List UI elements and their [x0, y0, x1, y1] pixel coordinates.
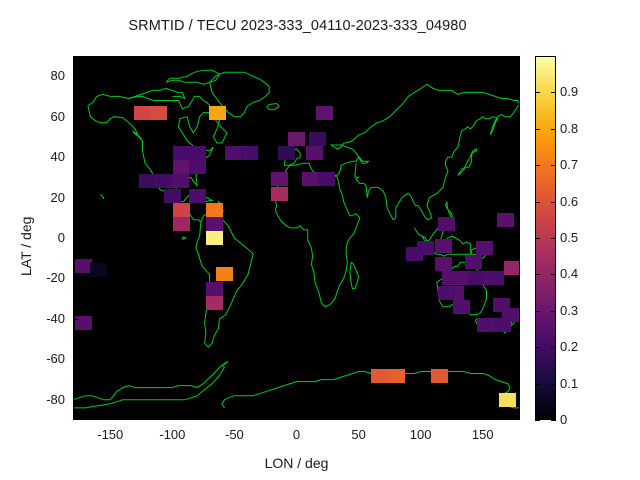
x-axis-tick-label: -50: [204, 427, 264, 442]
x-axis-tick-label: 50: [329, 427, 389, 442]
heatmap-cell: [189, 160, 206, 174]
colorbar-tick-mark: [535, 129, 540, 130]
colorbar-tick-label: 0.9: [560, 84, 578, 99]
colorbar-tick-mark: [551, 384, 556, 385]
heatmap-cell: [494, 318, 511, 332]
heatmap-cell: [316, 106, 333, 120]
heatmap-cell: [499, 393, 516, 407]
x-axis-tick-label: 100: [391, 427, 451, 442]
x-axis-tick-mark: [297, 415, 298, 420]
x-axis-tick-mark: [483, 415, 484, 420]
y-axis-tick-mark: [73, 238, 78, 239]
heatmap-cell: [438, 286, 455, 300]
y-axis-tick-label: 0: [5, 230, 65, 245]
heatmap-cell: [155, 174, 172, 188]
heatmap-cell: [164, 189, 181, 203]
heatmap-cell: [90, 263, 107, 277]
heatmap-cell: [241, 146, 258, 160]
colorbar-tick-label: 0.8: [560, 121, 578, 136]
y-axis-tick-mark: [73, 117, 78, 118]
heatmap-cell: [225, 146, 242, 160]
heatmap-cell: [442, 271, 459, 285]
y-axis-tick-mark: [73, 319, 78, 320]
heatmap-cell: [288, 132, 305, 146]
heatmap-plot-area: [73, 56, 520, 420]
x-axis-tick-label: 150: [453, 427, 513, 442]
colorbar-tick-mark: [551, 347, 556, 348]
y-axis-tick-label: 20: [5, 190, 65, 205]
heatmap-cell: [431, 369, 448, 383]
colorbar-tick-mark: [535, 347, 540, 348]
heatmap-cell: [209, 106, 226, 120]
y-axis-tick-mark: [73, 278, 78, 279]
heatmap-cell: [206, 203, 223, 217]
heatmap-cell: [435, 239, 452, 253]
colorbar-tick-label: 0.5: [560, 230, 578, 245]
x-axis-tick-mark: [421, 415, 422, 420]
y-axis-tick-label: -40: [5, 311, 65, 326]
x-axis-tick-mark: [110, 415, 111, 420]
heatmap-cell: [468, 271, 485, 285]
y-axis-label: LAT / deg: [18, 217, 34, 276]
heatmap-cell: [438, 217, 455, 231]
coastline-path: [222, 361, 228, 365]
colorbar-tick-mark: [551, 274, 556, 275]
y-axis-tick-label: 40: [5, 149, 65, 164]
colorbar-tick-label: 0: [560, 412, 567, 427]
heatmap-cell: [302, 172, 319, 186]
x-axis-tick-label: -100: [142, 427, 202, 442]
colorbar-tick-mark: [551, 165, 556, 166]
heatmap-cell: [465, 255, 482, 269]
heatmap-cell: [278, 146, 295, 160]
colorbar-tick-mark: [551, 238, 556, 239]
colorbar-tick-label: 0.6: [560, 194, 578, 209]
heatmap-cell: [173, 217, 190, 231]
coastline-path: [290, 143, 368, 175]
heatmap-cell: [476, 241, 493, 255]
x-axis-tick-mark: [172, 415, 173, 420]
heatmap-cell: [306, 146, 323, 160]
heatmap-cell: [371, 369, 388, 383]
y-axis-tick-label: 60: [5, 109, 65, 124]
colorbar-tick-mark: [535, 165, 540, 166]
colorbar-tick-mark: [551, 311, 556, 312]
heatmap-cell: [309, 132, 326, 146]
colorbar-tick-mark: [551, 129, 556, 130]
heatmap-cell: [271, 187, 288, 201]
x-axis-tick-mark: [234, 415, 235, 420]
figure: SRMTID / TECU 2023-333_04110-2023-333_04…: [0, 0, 640, 480]
colorbar-tick-mark: [551, 92, 556, 93]
heatmap-cell: [388, 369, 405, 383]
heatmap-cell: [477, 318, 494, 332]
x-axis-tick-label: 0: [267, 427, 327, 442]
y-axis-tick-label: -60: [5, 351, 65, 366]
heatmap-cell: [150, 106, 167, 120]
y-axis-tick-label: -20: [5, 270, 65, 285]
heatmap-cell: [216, 267, 233, 281]
heatmap-cell: [173, 203, 190, 217]
colorbar-tick-mark: [535, 202, 540, 203]
colorbar-tick-mark: [551, 420, 556, 421]
colorbar-tick-label: 0.4: [560, 266, 578, 281]
coastline-path: [267, 104, 279, 110]
heatmap-cell: [134, 106, 151, 120]
colorbar-tick-mark: [535, 92, 540, 93]
heatmap-cell: [318, 172, 335, 186]
coastline-path: [458, 149, 477, 175]
coastline-path: [100, 195, 104, 199]
colorbar-tick-mark: [535, 238, 540, 239]
colorbar-tick-label: 0.2: [560, 339, 578, 354]
heatmap-cell: [504, 261, 520, 275]
colorbar-tick-mark: [535, 384, 540, 385]
heatmap-cell: [173, 160, 190, 174]
coastline-path: [275, 165, 359, 307]
heatmap-cell: [406, 247, 423, 261]
x-axis-tick-mark: [359, 415, 360, 420]
y-axis-tick-label: 80: [5, 68, 65, 83]
colorbar-tick-mark: [535, 274, 540, 275]
heatmap-cell: [189, 146, 206, 160]
x-axis-label: LON / deg: [0, 455, 593, 471]
heatmap-cell: [435, 257, 452, 271]
heatmap-cell: [487, 271, 504, 285]
coastline-path: [346, 84, 520, 220]
heatmap-cell: [139, 174, 156, 188]
colorbar-tick-label: 0.7: [560, 157, 578, 172]
colorbar-tick-label: 0.1: [560, 376, 578, 391]
heatmap-cell: [271, 172, 288, 186]
coastline-path: [350, 262, 359, 288]
y-axis-tick-mark: [73, 400, 78, 401]
heatmap-cell: [206, 282, 223, 296]
heatmap-cell: [172, 174, 189, 188]
coastline-path: [73, 365, 225, 408]
heatmap-cell: [189, 189, 206, 203]
heatmap-cell: [206, 217, 223, 231]
heatmap-cell: [173, 146, 190, 160]
colorbar-tick-mark: [535, 311, 540, 312]
y-axis-tick-mark: [73, 359, 78, 360]
colorbar-tick-label: 0.3: [560, 303, 578, 318]
coastline-path: [182, 237, 186, 239]
heatmap-cell: [497, 213, 514, 227]
coastline-path: [166, 70, 219, 84]
colorbar-tick-mark: [551, 202, 556, 203]
x-axis-tick-label: -150: [80, 427, 140, 442]
y-axis-tick-mark: [73, 198, 78, 199]
chart-title: SRMTID / TECU 2023-333_04110-2023-333_04…: [0, 18, 595, 34]
heatmap-cell: [453, 300, 470, 314]
y-axis-tick-mark: [73, 157, 78, 158]
heatmap-cell: [206, 231, 223, 245]
y-axis-tick-mark: [73, 76, 78, 77]
colorbar-tick-mark: [535, 420, 540, 421]
heatmap-cell: [206, 296, 223, 310]
y-axis-tick-label: -80: [5, 392, 65, 407]
